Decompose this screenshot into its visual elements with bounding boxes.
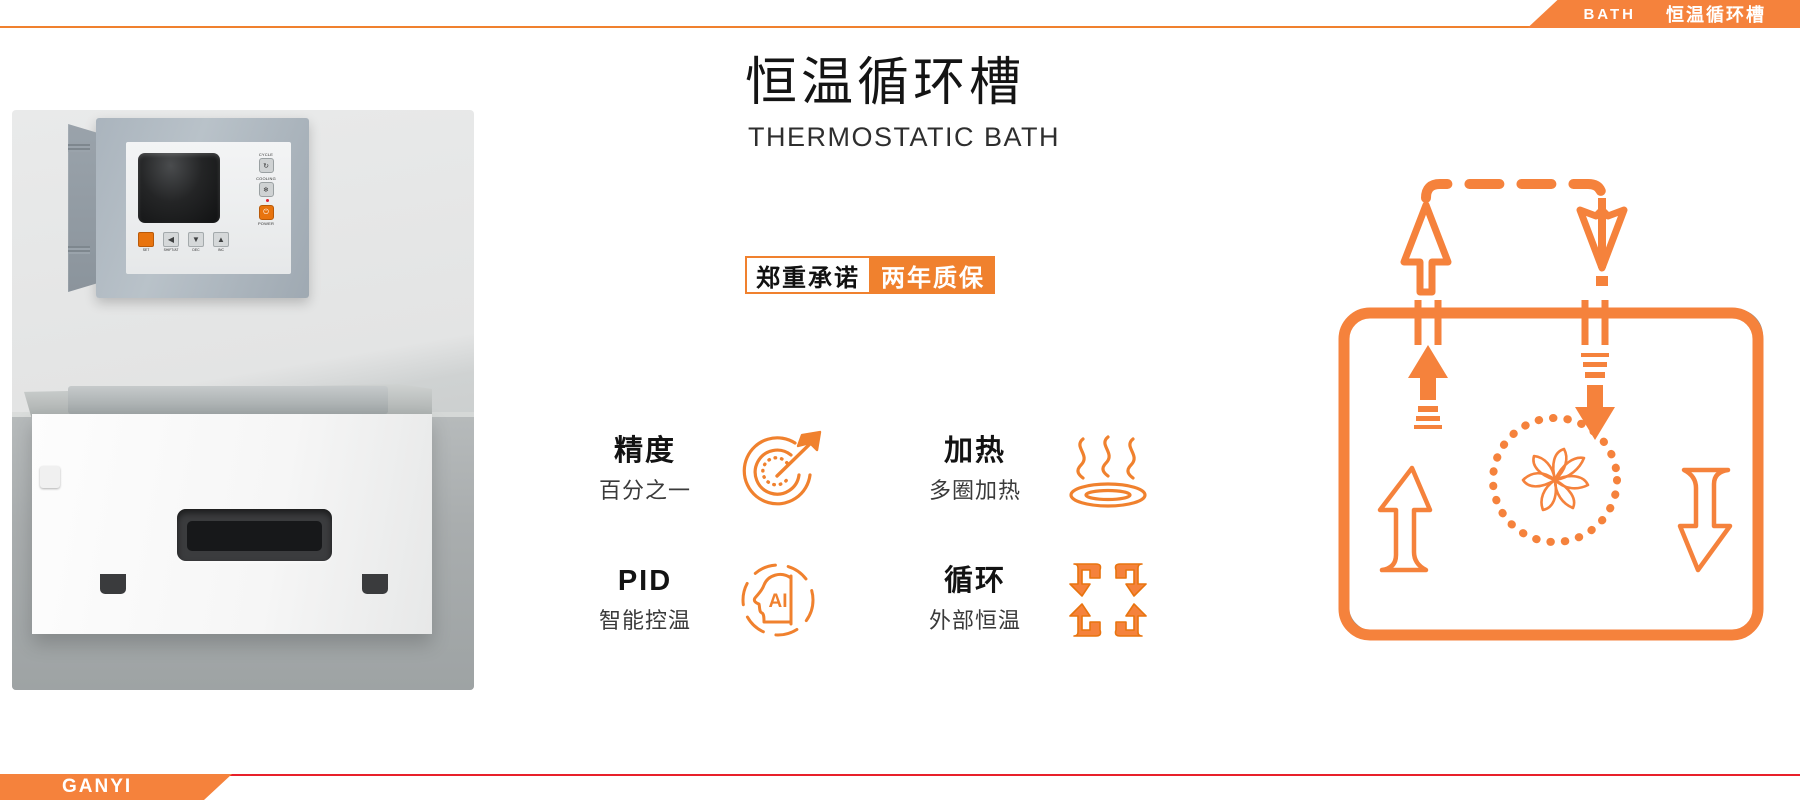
feature-accuracy-text: 精度 百分之一 <box>570 433 720 506</box>
feature-pid-desc: 智能控温 <box>570 606 720 637</box>
top-badge-chinese: 恒温循环槽 <box>1666 1 1766 27</box>
control-panel: CYCLE ↻ COOLING ❄ ⏻ POWER SET <box>126 142 291 274</box>
display-screen <box>138 153 220 223</box>
internal-up-arrow <box>1408 345 1448 429</box>
power-icon: ⏻ <box>259 205 274 220</box>
product-photo: CYCLE ↻ COOLING ❄ ⏻ POWER SET <box>12 110 474 690</box>
button-set-label: SET <box>138 248 154 252</box>
brand-logo-text: GANYI <box>62 776 132 798</box>
feature-pid-title: PID <box>570 563 720 599</box>
button-dec-label: DEC <box>188 248 204 252</box>
promise-left-text: 郑重承诺 <box>745 256 871 294</box>
inlet-down-arrow <box>1580 198 1624 286</box>
feature-heating-title: 加热 <box>900 433 1050 469</box>
controller-head: CYCLE ↻ COOLING ❄ ⏻ POWER SET <box>96 118 309 298</box>
arrow-up-icon: ▲ <box>213 232 229 247</box>
external-circulation-diagram <box>1330 150 1780 650</box>
feature-circulation-desc: 外部恒温 <box>900 606 1050 637</box>
page-title: 恒温循环槽 <box>745 40 1025 115</box>
right-flow-arrow <box>1680 470 1730 570</box>
feature-pid-text: PID 智能控温 <box>570 563 720 636</box>
bottom-rule <box>0 774 1800 776</box>
button-dec: ▼ DEC <box>188 232 204 252</box>
feature-accuracy-title: 精度 <box>570 433 720 469</box>
outlet-up-arrow <box>1404 205 1448 292</box>
tank-foot-right <box>362 574 388 594</box>
feature-row-top: 精度 百分之一 <box>570 405 1230 535</box>
top-product-badge: BATH 恒温循环槽 <box>1527 0 1800 28</box>
indicator-cooling: COOLING ❄ <box>249 176 283 198</box>
ai-head-icon: AI <box>720 553 835 648</box>
controller-vent-top <box>68 144 90 152</box>
tank-handle-recess <box>177 509 332 561</box>
tank-foot-left <box>100 574 126 594</box>
arrow-down-icon: ▼ <box>188 232 204 247</box>
feature-pid: PID 智能控温 AI <box>570 535 900 665</box>
circulation-arrows-icon <box>1050 553 1165 648</box>
feature-heating-text: 加热 多圈加热 <box>900 433 1050 506</box>
promise-right-text: 两年质保 <box>871 256 995 294</box>
top-badge-english: BATH <box>1583 6 1636 23</box>
indicator-cycle: CYCLE ↻ <box>249 152 283 174</box>
tank-body <box>32 414 432 634</box>
feature-accuracy-desc: 百分之一 <box>570 476 720 507</box>
banner-canvas: BATH 恒温循环槽 CYCLE ↻ COOL <box>0 0 1800 800</box>
button-set: SET <box>138 232 154 252</box>
indicator-cycle-label: CYCLE <box>249 152 283 157</box>
feature-circulation-title: 循环 <box>900 563 1050 599</box>
heating-steam-icon <box>1050 423 1165 518</box>
feature-circulation: 循环 外部恒温 <box>900 535 1230 665</box>
promise-badge: 郑重承诺 两年质保 <box>745 256 995 294</box>
control-button-row: SET ◀ SHIFT/AT ▼ DEC ▲ INC <box>138 232 283 252</box>
feature-accuracy: 精度 百分之一 <box>570 405 900 535</box>
button-shift-at: ◀ SHIFT/AT <box>163 232 179 252</box>
feature-row-bottom: PID 智能控温 AI 循环 外部恒温 <box>570 535 1230 665</box>
indicator-power-label: POWER <box>249 221 283 226</box>
button-shift-label: SHIFT/AT <box>163 248 179 252</box>
feature-grid: 精度 百分之一 <box>570 405 1230 665</box>
controller-vent-bottom <box>68 246 90 254</box>
left-flow-arrow <box>1380 468 1430 570</box>
feature-circulation-text: 循环 外部恒温 <box>900 563 1050 636</box>
tank-lid <box>68 386 388 414</box>
arrow-left-icon: ◀ <box>163 232 179 247</box>
target-arrow-icon <box>720 423 835 518</box>
feature-heating-desc: 多圈加热 <box>900 476 1050 507</box>
cooling-status-led <box>266 199 269 202</box>
impeller-blades <box>1523 449 1588 510</box>
external-loop-dashed-pipe <box>1426 184 1602 198</box>
snowflake-icon: ❄ <box>259 182 274 197</box>
brand-logo-badge: GANYI <box>0 774 232 800</box>
drain-valve <box>40 466 60 488</box>
indicator-cooling-label: COOLING <box>249 176 283 181</box>
svg-text:AI: AI <box>768 591 787 612</box>
button-inc-label: INC <box>213 248 229 252</box>
feature-heating: 加热 多圈加热 <box>900 405 1230 535</box>
cycle-icon: ↻ <box>259 158 274 173</box>
set-icon <box>138 232 154 247</box>
page-subtitle: THERMOSTATIC BATH <box>748 122 1060 153</box>
indicator-power: ⏻ POWER <box>249 204 283 226</box>
button-inc: ▲ INC <box>213 232 229 252</box>
